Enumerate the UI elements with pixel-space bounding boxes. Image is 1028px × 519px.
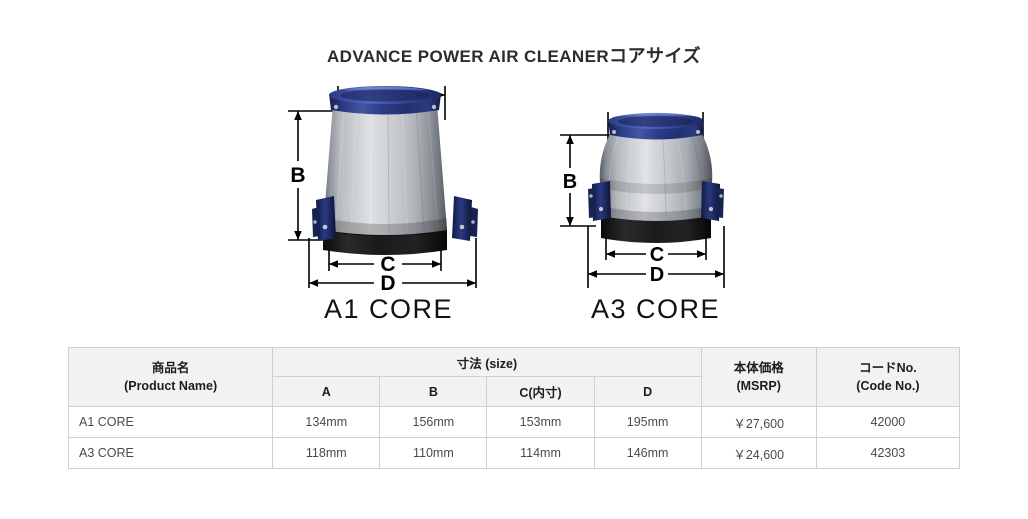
spec-table-head: 商品名 (Product Name) 寸法 (size) 本体価格 (MSRP)… [69,348,960,407]
a3-metal-body [600,130,713,221]
page-title: ADVANCE POWER AIR CLEANERコアサイズ [0,42,1028,68]
header-size-group: 寸法 (size) [273,348,701,377]
cell-dim-d: 146mm [594,438,701,469]
page-title-japanese: コアサイズ [609,46,701,66]
cell-price: ￥27,600 [701,407,816,438]
dimension-label-d: D [380,272,395,293]
header-product-name-jp: 商品名 [69,359,272,377]
header-code-jp: コードNo. [817,359,959,377]
cell-code: 42303 [816,438,959,469]
a1-ring-inner [340,90,430,102]
spec-table: 商品名 (Product Name) 寸法 (size) 本体価格 (MSRP)… [68,347,960,469]
a1-bracket-right [452,196,478,241]
header-row-primary: 商品名 (Product Name) 寸法 (size) 本体価格 (MSRP)… [69,348,960,377]
cell-dim-b: 156mm [380,407,487,438]
cell-dim-d: 195mm [594,407,701,438]
a1-core-label: A1 CORE [276,294,501,325]
table-row: A1 CORE 134mm 156mm 153mm 195mm ￥27,600 … [69,407,960,438]
product-figures: A B [0,78,1028,333]
header-code-en: (Code No.) [817,377,959,395]
header-dim-c: C(内寸) [487,377,594,407]
cell-code: 42000 [816,407,959,438]
a1-ring-highlight [342,87,428,91]
header-code: コードNo. (Code No.) [816,348,959,407]
cell-dim-c: 153mm [487,407,594,438]
a3-core-illustration: A B [548,104,763,294]
a3-ring-rivet-left [612,130,616,134]
figure-a3-core: A B [548,104,763,333]
a3-bracket-left [588,181,611,221]
spec-table-body: A1 CORE 134mm 156mm 153mm 195mm ￥27,600 … [69,407,960,469]
header-dim-a: A [273,377,380,407]
a1-bracket-left [312,196,336,241]
header-dim-d: D [594,377,701,407]
dimension-label-d: D [650,264,664,286]
cell-product-name: A3 CORE [69,438,273,469]
cell-dim-a: 118mm [273,438,380,469]
a1-metal-cone [323,104,447,235]
header-product-name: 商品名 (Product Name) [69,348,273,407]
dimension-label-b: B [563,171,577,193]
header-price-jp: 本体価格 [702,359,816,377]
figure-a1-core: A B [276,78,501,333]
cell-dim-b: 110mm [380,438,487,469]
a3-core-label: A3 CORE [548,294,763,325]
dimension-label-b: B [290,164,305,187]
a1-core-illustration: A B [276,78,501,293]
cell-dim-a: 134mm [273,407,380,438]
a3-ring-rivet-right [696,130,700,134]
dimension-label-c: C [650,244,664,266]
header-product-name-en: (Product Name) [69,377,272,395]
header-dim-b: B [380,377,487,407]
a3-bracket-right [701,181,724,221]
cell-price: ￥24,600 [701,438,816,469]
header-price: 本体価格 (MSRP) [701,348,816,407]
header-price-en: (MSRP) [702,377,816,395]
cell-product-name: A1 CORE [69,407,273,438]
a3-ring-inner [618,116,694,127]
cell-dim-c: 114mm [487,438,594,469]
table-row: A3 CORE 118mm 110mm 114mm 146mm ￥24,600 … [69,438,960,469]
spec-table-container: 商品名 (Product Name) 寸法 (size) 本体価格 (MSRP)… [68,347,960,469]
a1-ring-rivet-right [432,105,436,109]
a1-ring-rivet-left [334,105,338,109]
product-spec-page: ADVANCE POWER AIR CLEANERコアサイズ [0,0,1028,519]
page-title-latin: ADVANCE POWER AIR CLEANER [327,47,609,66]
